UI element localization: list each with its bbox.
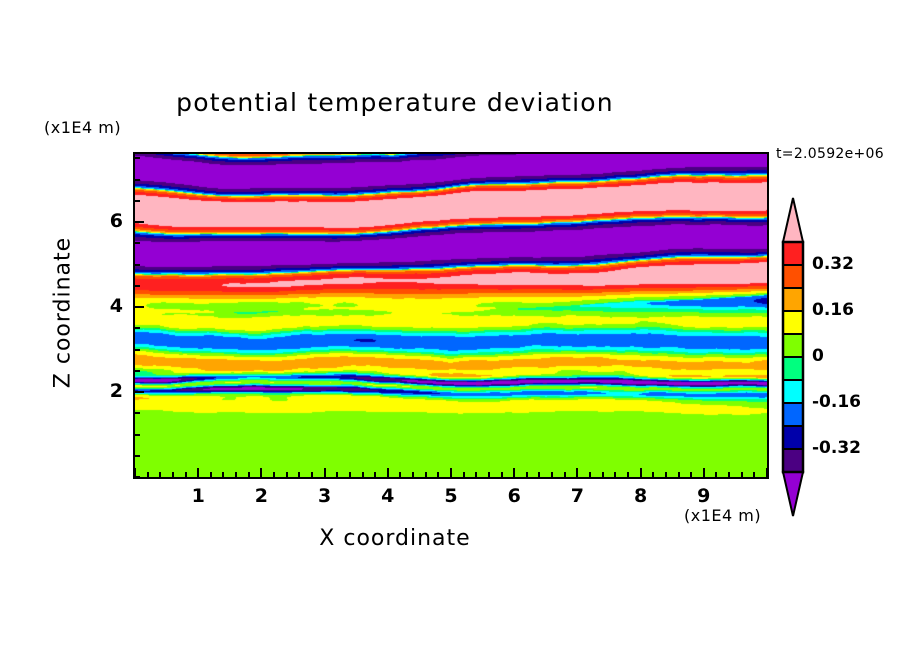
x-tick-minor	[248, 472, 250, 477]
y-tick-minor	[135, 264, 140, 266]
y-tick-minor	[135, 455, 140, 457]
x-tick-major	[324, 468, 326, 477]
y-tick-minor	[135, 200, 140, 202]
y-tick-minor	[135, 349, 140, 351]
x-tick-label: 6	[494, 485, 534, 507]
x-tick-minor	[210, 472, 212, 477]
x-tick-minor	[564, 472, 566, 477]
colorbar-tick-label: 0.32	[812, 254, 854, 274]
x-tick-minor	[172, 472, 174, 477]
x-tick-major	[450, 468, 452, 477]
x-tick-minor	[273, 472, 275, 477]
x-tick-minor	[614, 472, 616, 477]
x-tick-minor	[463, 472, 465, 477]
x-tick-label: 9	[684, 485, 724, 507]
x-tick-minor	[728, 472, 730, 477]
x-tick-minor	[551, 472, 553, 477]
x-tick-label: 8	[621, 485, 661, 507]
y-tick-minor	[135, 285, 140, 287]
y-tick-minor	[135, 242, 140, 244]
x-tick-minor	[185, 472, 187, 477]
x-tick-minor	[589, 472, 591, 477]
x-tick-major	[576, 468, 578, 477]
x-tick-minor	[298, 472, 300, 477]
y-tick-minor	[135, 434, 140, 436]
y-tick-minor	[135, 179, 140, 181]
x-tick-minor	[501, 472, 503, 477]
x-tick-major	[766, 468, 768, 477]
x-tick-major	[260, 468, 262, 477]
x-tick-minor	[437, 472, 439, 477]
y-tick-label: 2	[83, 380, 123, 402]
x-tick-major	[197, 468, 199, 477]
x-tick-major	[513, 468, 515, 477]
x-tick-minor	[147, 472, 149, 477]
x-tick-minor	[488, 472, 490, 477]
x-tick-label: 2	[241, 485, 281, 507]
x-tick-minor	[753, 472, 755, 477]
x-tick-minor	[715, 472, 717, 477]
y-tick-major	[135, 221, 144, 223]
x-tick-minor	[374, 472, 376, 477]
colorbar-tick-label: -0.32	[812, 438, 861, 458]
contour-figure: potential temperature deviation (x1E4 m)…	[0, 0, 904, 654]
y-tick-minor	[135, 327, 140, 329]
x-tick-minor	[222, 472, 224, 477]
y-tick-label: 6	[83, 210, 123, 232]
x-tick-minor	[665, 472, 667, 477]
x-tick-minor	[602, 472, 604, 477]
y-tick-label: 4	[83, 295, 123, 317]
y-tick-minor	[135, 412, 140, 414]
x-tick-major	[387, 468, 389, 477]
x-tick-minor	[425, 472, 427, 477]
x-tick-minor	[412, 472, 414, 477]
colorbar-tick-label: 0.16	[812, 300, 854, 320]
x-tick-minor	[526, 472, 528, 477]
colorbar-tick-label: -0.16	[812, 392, 861, 412]
x-tick-minor	[678, 472, 680, 477]
x-tick-label: 7	[557, 485, 597, 507]
axis-ticks: 123456789246	[0, 0, 904, 654]
x-tick-minor	[538, 472, 540, 477]
x-tick-label: 3	[305, 485, 345, 507]
x-tick-minor	[399, 472, 401, 477]
x-tick-minor	[159, 472, 161, 477]
x-tick-minor	[690, 472, 692, 477]
x-tick-major	[640, 468, 642, 477]
x-tick-minor	[652, 472, 654, 477]
y-tick-major	[135, 391, 144, 393]
x-tick-major	[703, 468, 705, 477]
x-tick-minor	[235, 472, 237, 477]
x-tick-minor	[311, 472, 313, 477]
x-tick-minor	[286, 472, 288, 477]
y-tick-minor	[135, 476, 140, 478]
x-tick-label: 1	[178, 485, 218, 507]
colorbar-labels: 0.320.160-0.16-0.32	[778, 196, 898, 518]
x-tick-minor	[627, 472, 629, 477]
x-tick-label: 5	[431, 485, 471, 507]
timestamp-annotation: t=2.0592e+06	[776, 146, 884, 162]
x-tick-minor	[349, 472, 351, 477]
colorbar-tick-label: 0	[812, 346, 824, 366]
x-tick-label: 4	[368, 485, 408, 507]
y-tick-minor	[135, 157, 140, 159]
x-tick-minor	[741, 472, 743, 477]
y-tick-minor	[135, 370, 140, 372]
x-tick-minor	[362, 472, 364, 477]
x-tick-minor	[336, 472, 338, 477]
y-tick-major	[135, 306, 144, 308]
x-tick-minor	[475, 472, 477, 477]
